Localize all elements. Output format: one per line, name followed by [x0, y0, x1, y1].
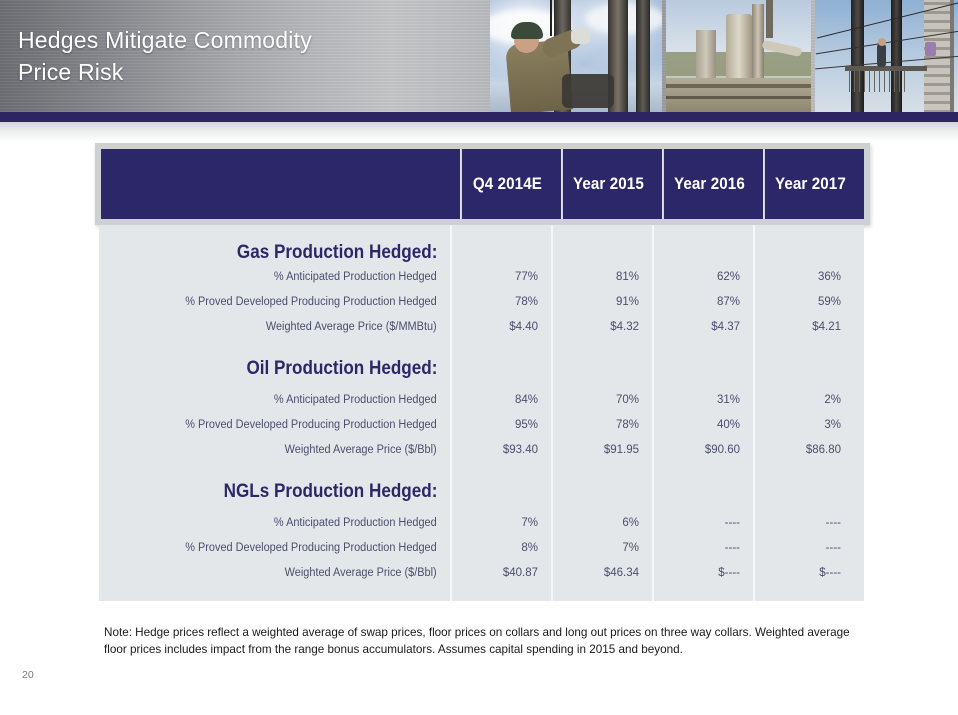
rig-worker-photo: [490, 0, 662, 112]
plant-beam: [666, 84, 811, 88]
row-value-year-2017: 3%: [753, 419, 854, 431]
row-value-q4-2014e: 95%: [450, 419, 551, 431]
row-value-year-2015: 78%: [551, 419, 652, 431]
hoist-cable: [550, 0, 552, 36]
pipe-tongs: [562, 74, 614, 108]
page-title: Hedges Mitigate Commodity Price Risk: [18, 24, 312, 88]
row-value-year-2016: 40%: [652, 419, 753, 431]
plant-vessel: [726, 14, 752, 80]
table-header-row: Q4 2014E Year 2015 Year 2016 Year 2017: [101, 149, 864, 219]
row-value-year-2015: 7%: [551, 542, 652, 554]
table-row: % Proved Developed Producing Production …: [99, 412, 864, 437]
table-row: % Proved Developed Producing Production …: [99, 289, 864, 314]
row-value-year-2015: $91.95: [551, 444, 652, 456]
row-value-year-2016: ----: [652, 517, 753, 529]
section-title: NGLs Production Hedged:: [134, 481, 450, 503]
footnote: Note: Hedge prices reflect a weighted av…: [104, 625, 859, 658]
row-value-q4-2014e: 84%: [450, 394, 551, 406]
row-value-q4-2014e: $4.40: [450, 321, 551, 333]
column-header-q4-2014e: Q4 2014E: [460, 149, 553, 219]
section-title: Gas Production Hedged:: [134, 242, 450, 264]
hedge-summary-table: Q4 2014E Year 2015 Year 2016 Year 2017 G…: [95, 143, 870, 601]
section-header-oil: Oil Production Hedged:: [99, 349, 864, 380]
worker-body: [877, 44, 886, 67]
worker-glove: [571, 28, 590, 44]
row-value-year-2015: $4.32: [551, 321, 652, 333]
exhaust-stack: [766, 0, 773, 38]
hard-hat: [511, 22, 543, 39]
table-header-frame: Q4 2014E Year 2015 Year 2016 Year 2017: [95, 143, 870, 225]
table-body: Gas Production Hedged: % Anticipated Pro…: [99, 225, 864, 601]
row-label: % Anticipated Production Hedged: [117, 517, 450, 529]
table-row: % Anticipated Production Hedged 84% 70% …: [99, 387, 864, 412]
derrick-equipment: [925, 42, 936, 56]
row-value-q4-2014e: $93.40: [450, 444, 551, 456]
row-value-year-2016: $4.37: [652, 321, 753, 333]
table-header-spacer: [101, 149, 456, 219]
row-label: Weighted Average Price ($/Bbl): [117, 444, 450, 456]
section-gap: [99, 503, 864, 510]
row-label: % Anticipated Production Hedged: [117, 271, 450, 283]
row-value-year-2017: ----: [753, 517, 854, 529]
row-value-q4-2014e: 78%: [450, 296, 551, 308]
page-number: 20: [22, 669, 34, 681]
table-row: % Proved Developed Producing Production …: [99, 535, 864, 560]
column-header-year-2016: Year 2016: [662, 149, 755, 219]
row-value-year-2017: 36%: [753, 271, 854, 283]
row-value-q4-2014e: $40.87: [450, 567, 551, 579]
row-label: Weighted Average Price ($/MMBtu): [117, 321, 450, 333]
banner-photo-strip: [490, 0, 958, 112]
section-gap: [99, 462, 864, 472]
table-row: % Anticipated Production Hedged 77% 81% …: [99, 264, 864, 289]
row-value-year-2015: 81%: [551, 271, 652, 283]
row-value-year-2016: ----: [652, 542, 753, 554]
row-value-year-2016: 87%: [652, 296, 753, 308]
row-value-year-2015: 70%: [551, 394, 652, 406]
row-value-year-2017: 2%: [753, 394, 854, 406]
row-value-year-2015: 6%: [551, 517, 652, 529]
column-header-year-2017: Year 2017: [763, 149, 856, 219]
row-value-year-2017: ----: [753, 542, 854, 554]
row-value-year-2017: 59%: [753, 296, 854, 308]
plant-vessel: [696, 30, 716, 80]
row-value-year-2016: $----: [652, 567, 753, 579]
banner-accent-bar: [0, 112, 958, 122]
derrick-lattice: [849, 70, 909, 92]
row-value-year-2016: $90.60: [652, 444, 753, 456]
row-value-year-2016: 62%: [652, 271, 753, 283]
table-row: Weighted Average Price ($/MMBtu) $4.40 $…: [99, 314, 864, 339]
table-row: % Anticipated Production Hedged 7% 6% --…: [99, 510, 864, 535]
row-label: Weighted Average Price ($/Bbl): [117, 567, 450, 579]
row-label: % Proved Developed Producing Production …: [117, 542, 450, 554]
plant-beam: [666, 96, 811, 99]
row-label: % Anticipated Production Hedged: [117, 394, 450, 406]
table-row: Weighted Average Price ($/Bbl) $40.87 $4…: [99, 560, 864, 585]
derrick-post: [851, 0, 864, 112]
row-label: % Proved Developed Producing Production …: [117, 296, 450, 308]
row-value-year-2017: $----: [753, 567, 854, 579]
worker-head: [878, 38, 886, 46]
section-gap: [99, 339, 864, 349]
column-header-year-2015: Year 2015: [561, 149, 654, 219]
banner-fade-strip: [0, 122, 958, 142]
row-value-year-2015: $46.34: [551, 567, 652, 579]
derrick-photo: [815, 0, 958, 112]
section-gap: [99, 380, 864, 387]
row-value-q4-2014e: 8%: [450, 542, 551, 554]
gas-plant-photo: [666, 0, 811, 112]
row-value-q4-2014e: 77%: [450, 271, 551, 283]
row-value-year-2015: 91%: [551, 296, 652, 308]
row-value-year-2017: $4.21: [753, 321, 854, 333]
table-row: Weighted Average Price ($/Bbl) $93.40 $9…: [99, 437, 864, 462]
slide: Hedges Mitigate Commodity Price Risk: [0, 0, 958, 715]
row-value-q4-2014e: 7%: [450, 517, 551, 529]
row-value-year-2016: 31%: [652, 394, 753, 406]
section-header-gas: Gas Production Hedged:: [99, 233, 864, 264]
section-title: Oil Production Hedged:: [134, 358, 450, 380]
row-label: % Proved Developed Producing Production …: [117, 419, 450, 431]
section-header-ngls: NGLs Production Hedged:: [99, 472, 864, 503]
row-value-year-2017: $86.80: [753, 444, 854, 456]
drill-pipe: [636, 0, 650, 112]
slide-header-banner: Hedges Mitigate Commodity Price Risk: [0, 0, 958, 112]
